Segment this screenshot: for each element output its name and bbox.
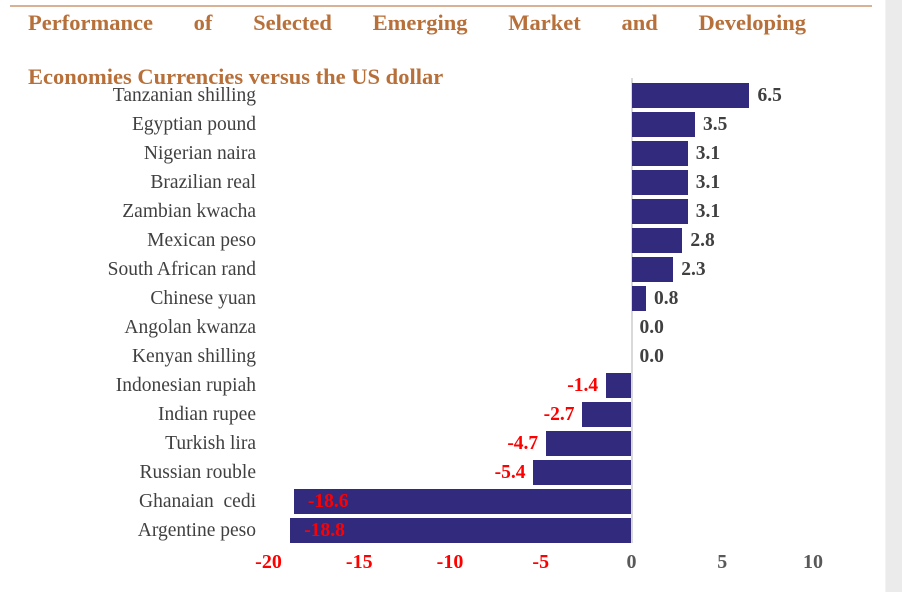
bar-row: Angolan kwanza0.0 bbox=[0, 313, 886, 342]
bar bbox=[632, 199, 688, 224]
bar-value-label: 2.8 bbox=[690, 226, 714, 255]
category-label: Indonesian rupiah bbox=[0, 371, 256, 400]
x-axis-tick-label: 10 bbox=[773, 547, 853, 577]
bar-row: Chinese yuan0.8 bbox=[0, 284, 886, 313]
bar bbox=[632, 286, 647, 311]
bar-row: Egyptian pound3.5 bbox=[0, 110, 886, 139]
bar-row: Tanzanian shilling6.5 bbox=[0, 81, 886, 110]
bar-value-label: -2.7 bbox=[524, 400, 574, 429]
bar-value-label: -1.4 bbox=[548, 371, 598, 400]
bar-value-label: -5.4 bbox=[475, 458, 525, 487]
category-label: Ghanaian cedi bbox=[0, 487, 256, 516]
category-label: Argentine peso bbox=[0, 516, 256, 545]
bar-row: Mexican peso2.8 bbox=[0, 226, 886, 255]
category-label: Brazilian real bbox=[0, 168, 256, 197]
bar bbox=[546, 431, 631, 456]
bar bbox=[632, 141, 688, 166]
bar-value-label: 3.1 bbox=[696, 139, 720, 168]
bar-value-label: -18.6 bbox=[308, 487, 349, 516]
bar-row: Nigerian naira3.1 bbox=[0, 139, 886, 168]
category-label: Chinese yuan bbox=[0, 284, 256, 313]
bar-value-label: 3.5 bbox=[703, 110, 727, 139]
category-label: Mexican peso bbox=[0, 226, 256, 255]
category-label: Nigerian naira bbox=[0, 139, 256, 168]
category-label: South African rand bbox=[0, 255, 256, 284]
bar-row: South African rand2.3 bbox=[0, 255, 886, 284]
bar bbox=[632, 257, 674, 282]
bar-value-label: 2.3 bbox=[681, 255, 705, 284]
bar-row: Turkish lira-4.7 bbox=[0, 429, 886, 458]
x-axis-tick-label: -15 bbox=[319, 547, 399, 577]
bar bbox=[632, 228, 683, 253]
category-label: Zambian kwacha bbox=[0, 197, 256, 226]
category-label: Tanzanian shilling bbox=[0, 81, 256, 110]
category-label: Russian rouble bbox=[0, 458, 256, 487]
bar-value-label: 0.0 bbox=[640, 342, 664, 371]
x-axis-tick-label: -20 bbox=[229, 547, 309, 577]
bar-row: Russian rouble-5.4 bbox=[0, 458, 886, 487]
bar-value-label: 0.8 bbox=[654, 284, 678, 313]
category-label: Kenyan shilling bbox=[0, 342, 256, 371]
bar-row: Zambian kwacha3.1 bbox=[0, 197, 886, 226]
category-label: Turkish lira bbox=[0, 429, 256, 458]
x-axis-tick-label: -10 bbox=[410, 547, 490, 577]
x-axis-ticks: -20-15-10-50510 bbox=[0, 547, 886, 581]
bar bbox=[606, 373, 631, 398]
bar-row: Indonesian rupiah-1.4 bbox=[0, 371, 886, 400]
bar-value-label: 0.0 bbox=[640, 313, 664, 342]
category-label: Indian rupee bbox=[0, 400, 256, 429]
bar-value-label: 3.1 bbox=[696, 168, 720, 197]
bar-value-label: 6.5 bbox=[757, 81, 781, 110]
x-axis-tick-label: 5 bbox=[682, 547, 762, 577]
bar-value-label: -18.8 bbox=[304, 516, 345, 545]
category-label: Angolan kwanza bbox=[0, 313, 256, 342]
bar-value-label: 3.1 bbox=[696, 197, 720, 226]
bar-row: Ghanaian cedi-18.6 bbox=[0, 487, 886, 516]
category-label: Egyptian pound bbox=[0, 110, 256, 139]
bar bbox=[582, 402, 631, 427]
bar bbox=[632, 83, 750, 108]
bar-row: Indian rupee-2.7 bbox=[0, 400, 886, 429]
page-edge-strip bbox=[886, 0, 902, 592]
chart-page: Performance of Selected Emerging Market … bbox=[0, 0, 902, 592]
x-axis-tick-label: -5 bbox=[501, 547, 581, 577]
bar-row: Argentine peso-18.8 bbox=[0, 516, 886, 545]
plot-area: Tanzanian shilling6.5Egyptian pound3.5Ni… bbox=[0, 0, 886, 592]
bar bbox=[533, 460, 631, 485]
bar-value-label: -4.7 bbox=[488, 429, 538, 458]
bar bbox=[632, 112, 696, 137]
bar-row: Brazilian real3.1 bbox=[0, 168, 886, 197]
bar bbox=[632, 170, 688, 195]
x-axis-tick-label: 0 bbox=[592, 547, 672, 577]
bar-row: Kenyan shilling0.0 bbox=[0, 342, 886, 371]
